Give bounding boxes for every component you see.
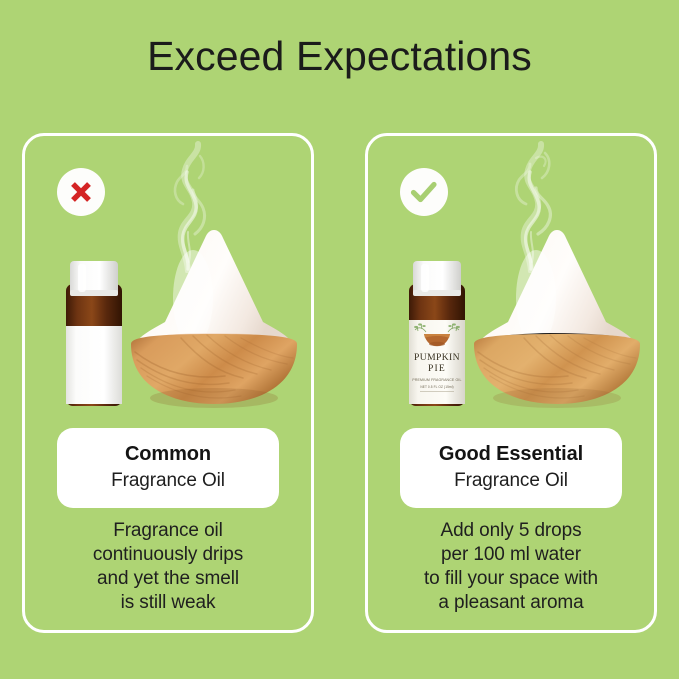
product-scene-good-essential: PUMPKIN PIE PREMIUM FRAGRANCE OIL NET 0.… [368,136,654,408]
aroma-diffuser-icon [121,226,307,408]
comparison-card-common: Common Fragrance Oil Fragrance oil conti… [22,133,314,633]
description-line: a pleasant aroma [378,591,644,615]
pill-title: Good Essential [408,442,614,468]
description-line: and yet the smell [35,567,301,591]
description-line: to fill your space with [378,567,644,591]
comparison-poster: Exceed Expectations [0,0,679,679]
svg-text:PUMPKIN: PUMPKIN [414,352,460,363]
pill-title: Common [65,442,271,468]
description-common: Fragrance oil continuously drips and yet… [35,519,301,616]
description-line: Fragrance oil [35,519,301,543]
product-scene-common [25,136,311,408]
page-title: Exceed Expectations [0,32,679,81]
description-line: Add only 5 drops [378,519,644,543]
fragrance-oil-bottle [63,260,125,408]
pill-subtitle: Fragrance Oil [408,469,614,494]
description-line: is still weak [35,591,301,615]
description-good-essential: Add only 5 drops per 100 ml water to fil… [378,519,644,616]
product-name-pill-common: Common Fragrance Oil [57,428,279,508]
product-name-pill-good-essential: Good Essential Fragrance Oil [400,428,622,508]
pill-subtitle: Fragrance Oil [65,469,271,494]
aroma-diffuser-icon [464,226,650,408]
comparison-card-good-essential: PUMPKIN PIE PREMIUM FRAGRANCE OIL NET 0.… [365,133,657,633]
svg-text:PIE: PIE [428,363,446,374]
fragrance-oil-bottle-pumpkin-pie: PUMPKIN PIE PREMIUM FRAGRANCE OIL NET 0.… [406,260,468,408]
svg-text:NET 0.5 FL OZ (15ml): NET 0.5 FL OZ (15ml) [420,385,453,389]
svg-text:PREMIUM FRAGRANCE OIL: PREMIUM FRAGRANCE OIL [412,378,461,382]
description-line: per 100 ml water [378,543,644,567]
description-line: continuously drips [35,543,301,567]
